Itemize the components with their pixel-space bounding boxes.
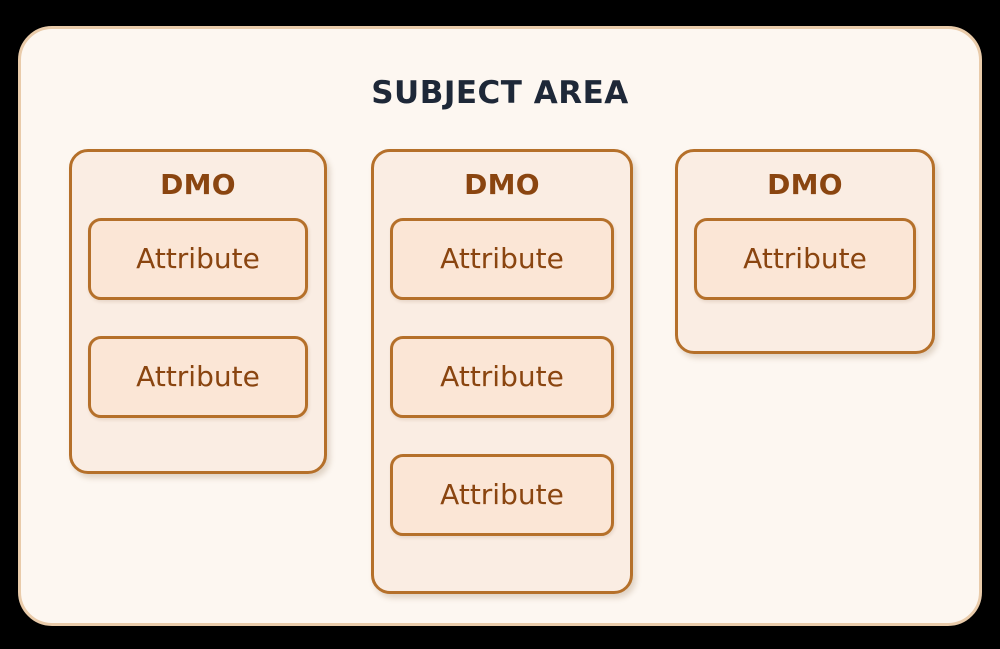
attribute-label: Attribute	[136, 363, 260, 391]
attribute-box[interactable]: Attribute	[390, 218, 614, 300]
subject-area-container: SUBJECT AREA DMO Attribute Attribute DMO	[18, 26, 982, 626]
attribute-list-1: Attribute Attribute	[88, 218, 308, 418]
dmo-label-3: DMO	[678, 168, 932, 201]
attribute-box[interactable]: Attribute	[390, 336, 614, 418]
dmo-box-1[interactable]: DMO Attribute Attribute	[69, 149, 327, 474]
attribute-label: Attribute	[440, 363, 564, 391]
dmo-label-2: DMO	[374, 168, 630, 201]
diagram-canvas: SUBJECT AREA DMO Attribute Attribute DMO	[0, 0, 1000, 649]
attribute-list-2: Attribute Attribute Attribute	[390, 218, 614, 536]
attribute-box[interactable]: Attribute	[88, 336, 308, 418]
dmo-box-3[interactable]: DMO Attribute	[675, 149, 935, 354]
dmo-label-1: DMO	[72, 168, 324, 201]
attribute-label: Attribute	[743, 245, 867, 273]
attribute-label: Attribute	[440, 481, 564, 509]
attribute-label: Attribute	[136, 245, 260, 273]
attribute-list-3: Attribute	[694, 218, 916, 300]
attribute-box[interactable]: Attribute	[390, 454, 614, 536]
attribute-box[interactable]: Attribute	[694, 218, 916, 300]
attribute-label: Attribute	[440, 245, 564, 273]
dmo-box-2[interactable]: DMO Attribute Attribute Attribute	[371, 149, 633, 594]
dmo-row: DMO Attribute Attribute DMO Attribute	[21, 29, 979, 623]
attribute-box[interactable]: Attribute	[88, 218, 308, 300]
